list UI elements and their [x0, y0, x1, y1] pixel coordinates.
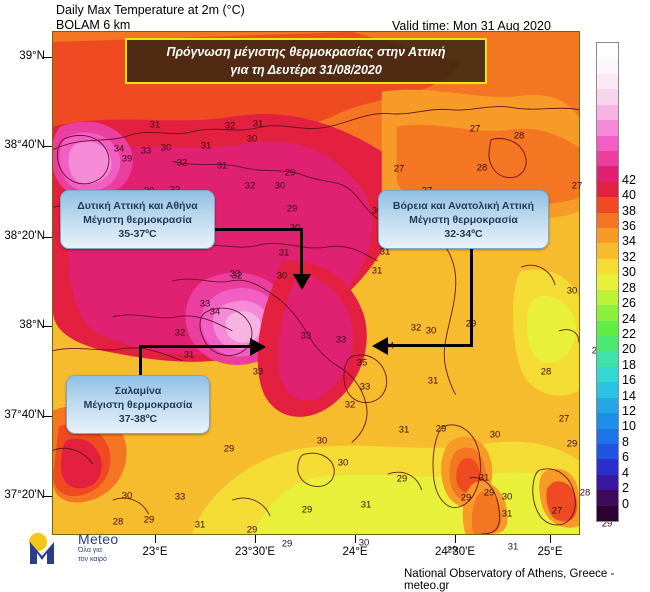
- colorbar-tick: 22: [622, 327, 636, 341]
- logo-name: Meteo: [78, 531, 118, 547]
- callout-west-attica-athens[interactable]: Δυτική Αττική και Αθήνα Μέγιστη θερμοκρα…: [60, 190, 215, 249]
- colorbar-swatch: [597, 74, 618, 89]
- colorbar-tick-labels: 024681012141618202224262830323436384042: [622, 42, 648, 520]
- lon-axis-label: 25°E: [515, 546, 585, 558]
- colorbar-swatch: [597, 136, 618, 151]
- colorbar-swatch: [597, 336, 618, 351]
- lon-tick: [155, 535, 156, 543]
- lat-axis-label: 38°N: [0, 319, 45, 331]
- leader-line-salamina-horizontal: [139, 345, 252, 348]
- lat-axis-label: 38°20'N: [0, 230, 45, 242]
- colorbar-tick: 16: [622, 373, 636, 387]
- logo-tagline: Όλα για τον καιρό: [78, 547, 118, 564]
- lon-axis-label: 24°30'E: [420, 546, 490, 558]
- colorbar-swatch: [597, 105, 618, 120]
- map-canvas: [53, 32, 579, 534]
- colorbar-swatch: [597, 290, 618, 305]
- contour-value-label: 28: [580, 488, 591, 499]
- colorbar-swatch: [597, 197, 618, 212]
- colorbar-tick: 8: [622, 435, 629, 449]
- colorbar-tick: 38: [622, 204, 636, 218]
- lat-axis-label: 38°40'N: [0, 139, 45, 151]
- colorbar-swatch: [597, 490, 618, 505]
- colorbar-swatch: [597, 213, 618, 228]
- callout-west-line-3: 35-37ºC: [118, 227, 156, 241]
- lat-tick: [44, 416, 52, 417]
- colorbar-swatch: [597, 182, 618, 197]
- lat-axis-label: 39°N: [0, 50, 45, 62]
- colorbar-swatch: [597, 321, 618, 336]
- colorbar-swatch: [597, 243, 618, 258]
- colorbar-tick: 28: [622, 281, 636, 295]
- callout-salamina-line-3: 37-38ºC: [119, 412, 157, 426]
- colorbar-swatch: [597, 506, 618, 521]
- colorbar-tick: 26: [622, 296, 636, 310]
- colorbar-swatch: [597, 58, 618, 73]
- leader-line-north-horizontal: [388, 344, 473, 347]
- colorbar-swatch: [597, 475, 618, 490]
- leader-line-north-vertical: [470, 249, 473, 347]
- colorbar-tick: 30: [622, 265, 636, 279]
- colorbar-swatch: [597, 382, 618, 397]
- colorbar-swatch: [597, 351, 618, 366]
- lon-axis-label: 23°30'E: [220, 546, 290, 558]
- lat-tick: [44, 146, 52, 147]
- lon-tick: [255, 535, 256, 543]
- colorbar-tick: 0: [622, 497, 629, 511]
- callout-salamina-line-1: Σαλαμίνα: [115, 384, 162, 398]
- lat-tick: [44, 326, 52, 327]
- arrow-head-salamina: [250, 338, 266, 356]
- colorbar-swatch: [597, 166, 618, 181]
- callout-north-east-attica[interactable]: Βόρεια και Ανατολική Αττική Μέγιστη θερμ…: [378, 190, 549, 249]
- lat-tick: [44, 57, 52, 58]
- colorbar-tick: 40: [622, 188, 636, 202]
- page-title: Daily Max Temperature at 2m (°C) BOLAM 6…: [56, 3, 245, 33]
- temperature-field: [53, 32, 579, 534]
- colorbar-tick: 36: [622, 219, 636, 233]
- lat-tick: [44, 237, 52, 238]
- colorbar-tick: 4: [622, 466, 629, 480]
- callout-north-line-2: Μέγιστη θερμοκρασία: [409, 213, 518, 227]
- colorbar-swatch: [597, 43, 618, 58]
- meteo-logo-text: Meteo Όλα για τον καιρό: [78, 531, 118, 564]
- callout-north-line-3: 32-34ºC: [444, 227, 482, 241]
- colorbar-tick: 2: [622, 481, 629, 495]
- callout-salamina-line-2: Μέγιστη θερμοκρασία: [84, 398, 193, 412]
- colorbar-swatch: [597, 274, 618, 289]
- colorbar-tick: 24: [622, 312, 636, 326]
- callout-west-line-1: Δυτική Αττική και Αθήνα: [77, 199, 198, 213]
- colorbar-tick: 18: [622, 358, 636, 372]
- arrow-head-west: [293, 274, 311, 290]
- callout-west-line-2: Μέγιστη θερμοκρασία: [83, 213, 192, 227]
- colorbar-swatch: [597, 151, 618, 166]
- colorbar-swatch: [597, 259, 618, 274]
- lat-axis-label: 37°40'N: [0, 409, 45, 421]
- leader-line-west-vertical: [300, 228, 303, 276]
- colorbar-tick: 6: [622, 450, 629, 464]
- lon-axis-label: 24°E: [320, 546, 390, 558]
- callout-north-line-1: Βόρεια και Ανατολική Αττική: [393, 199, 534, 213]
- banner-line-2: για τη Δευτέρα 31/08/2020: [230, 61, 382, 79]
- colorbar-swatch: [597, 413, 618, 428]
- lon-tick: [550, 535, 551, 543]
- colorbar-swatch: [597, 305, 618, 320]
- colorbar-tick: 34: [622, 234, 636, 248]
- lat-tick: [44, 496, 52, 497]
- leader-line-west-horizontal: [215, 228, 303, 231]
- leader-line-salamina-vertical: [139, 345, 142, 377]
- arrow-head-north: [372, 337, 388, 355]
- colorbar-tick: 12: [622, 404, 636, 418]
- colorbar-swatch: [597, 429, 618, 444]
- attribution-footer: National Observatory of Athens, Greece -…: [404, 568, 650, 592]
- colorbar-tick: 42: [622, 173, 636, 187]
- colorbar-swatch: [597, 444, 618, 459]
- temperature-map: [52, 31, 580, 535]
- colorbar-swatch: [597, 367, 618, 382]
- lon-tick: [355, 535, 356, 543]
- colorbar-swatch: [597, 228, 618, 243]
- callout-salamina[interactable]: Σαλαμίνα Μέγιστη θερμοκρασία 37-38ºC: [66, 375, 210, 434]
- colorbar-swatch: [597, 89, 618, 104]
- lat-axis-label: 37°20'N: [0, 489, 45, 501]
- colorbar-swatch: [597, 398, 618, 413]
- colorbar-tick: 32: [622, 250, 636, 264]
- colorbar-tick: 14: [622, 389, 636, 403]
- colorbar-tick: 20: [622, 342, 636, 356]
- forecast-banner: Πρόγνωση μέγιστης θερμοκρασίας στην Αττι…: [125, 38, 487, 84]
- colorbar-tick: 10: [622, 419, 636, 433]
- colorbar-swatch: [597, 459, 618, 474]
- banner-line-1: Πρόγνωση μέγιστης θερμοκρασίας στην Αττι…: [167, 43, 446, 61]
- colorbar-swatch: [597, 120, 618, 135]
- lon-tick: [455, 535, 456, 543]
- temperature-colorbar: [596, 42, 619, 522]
